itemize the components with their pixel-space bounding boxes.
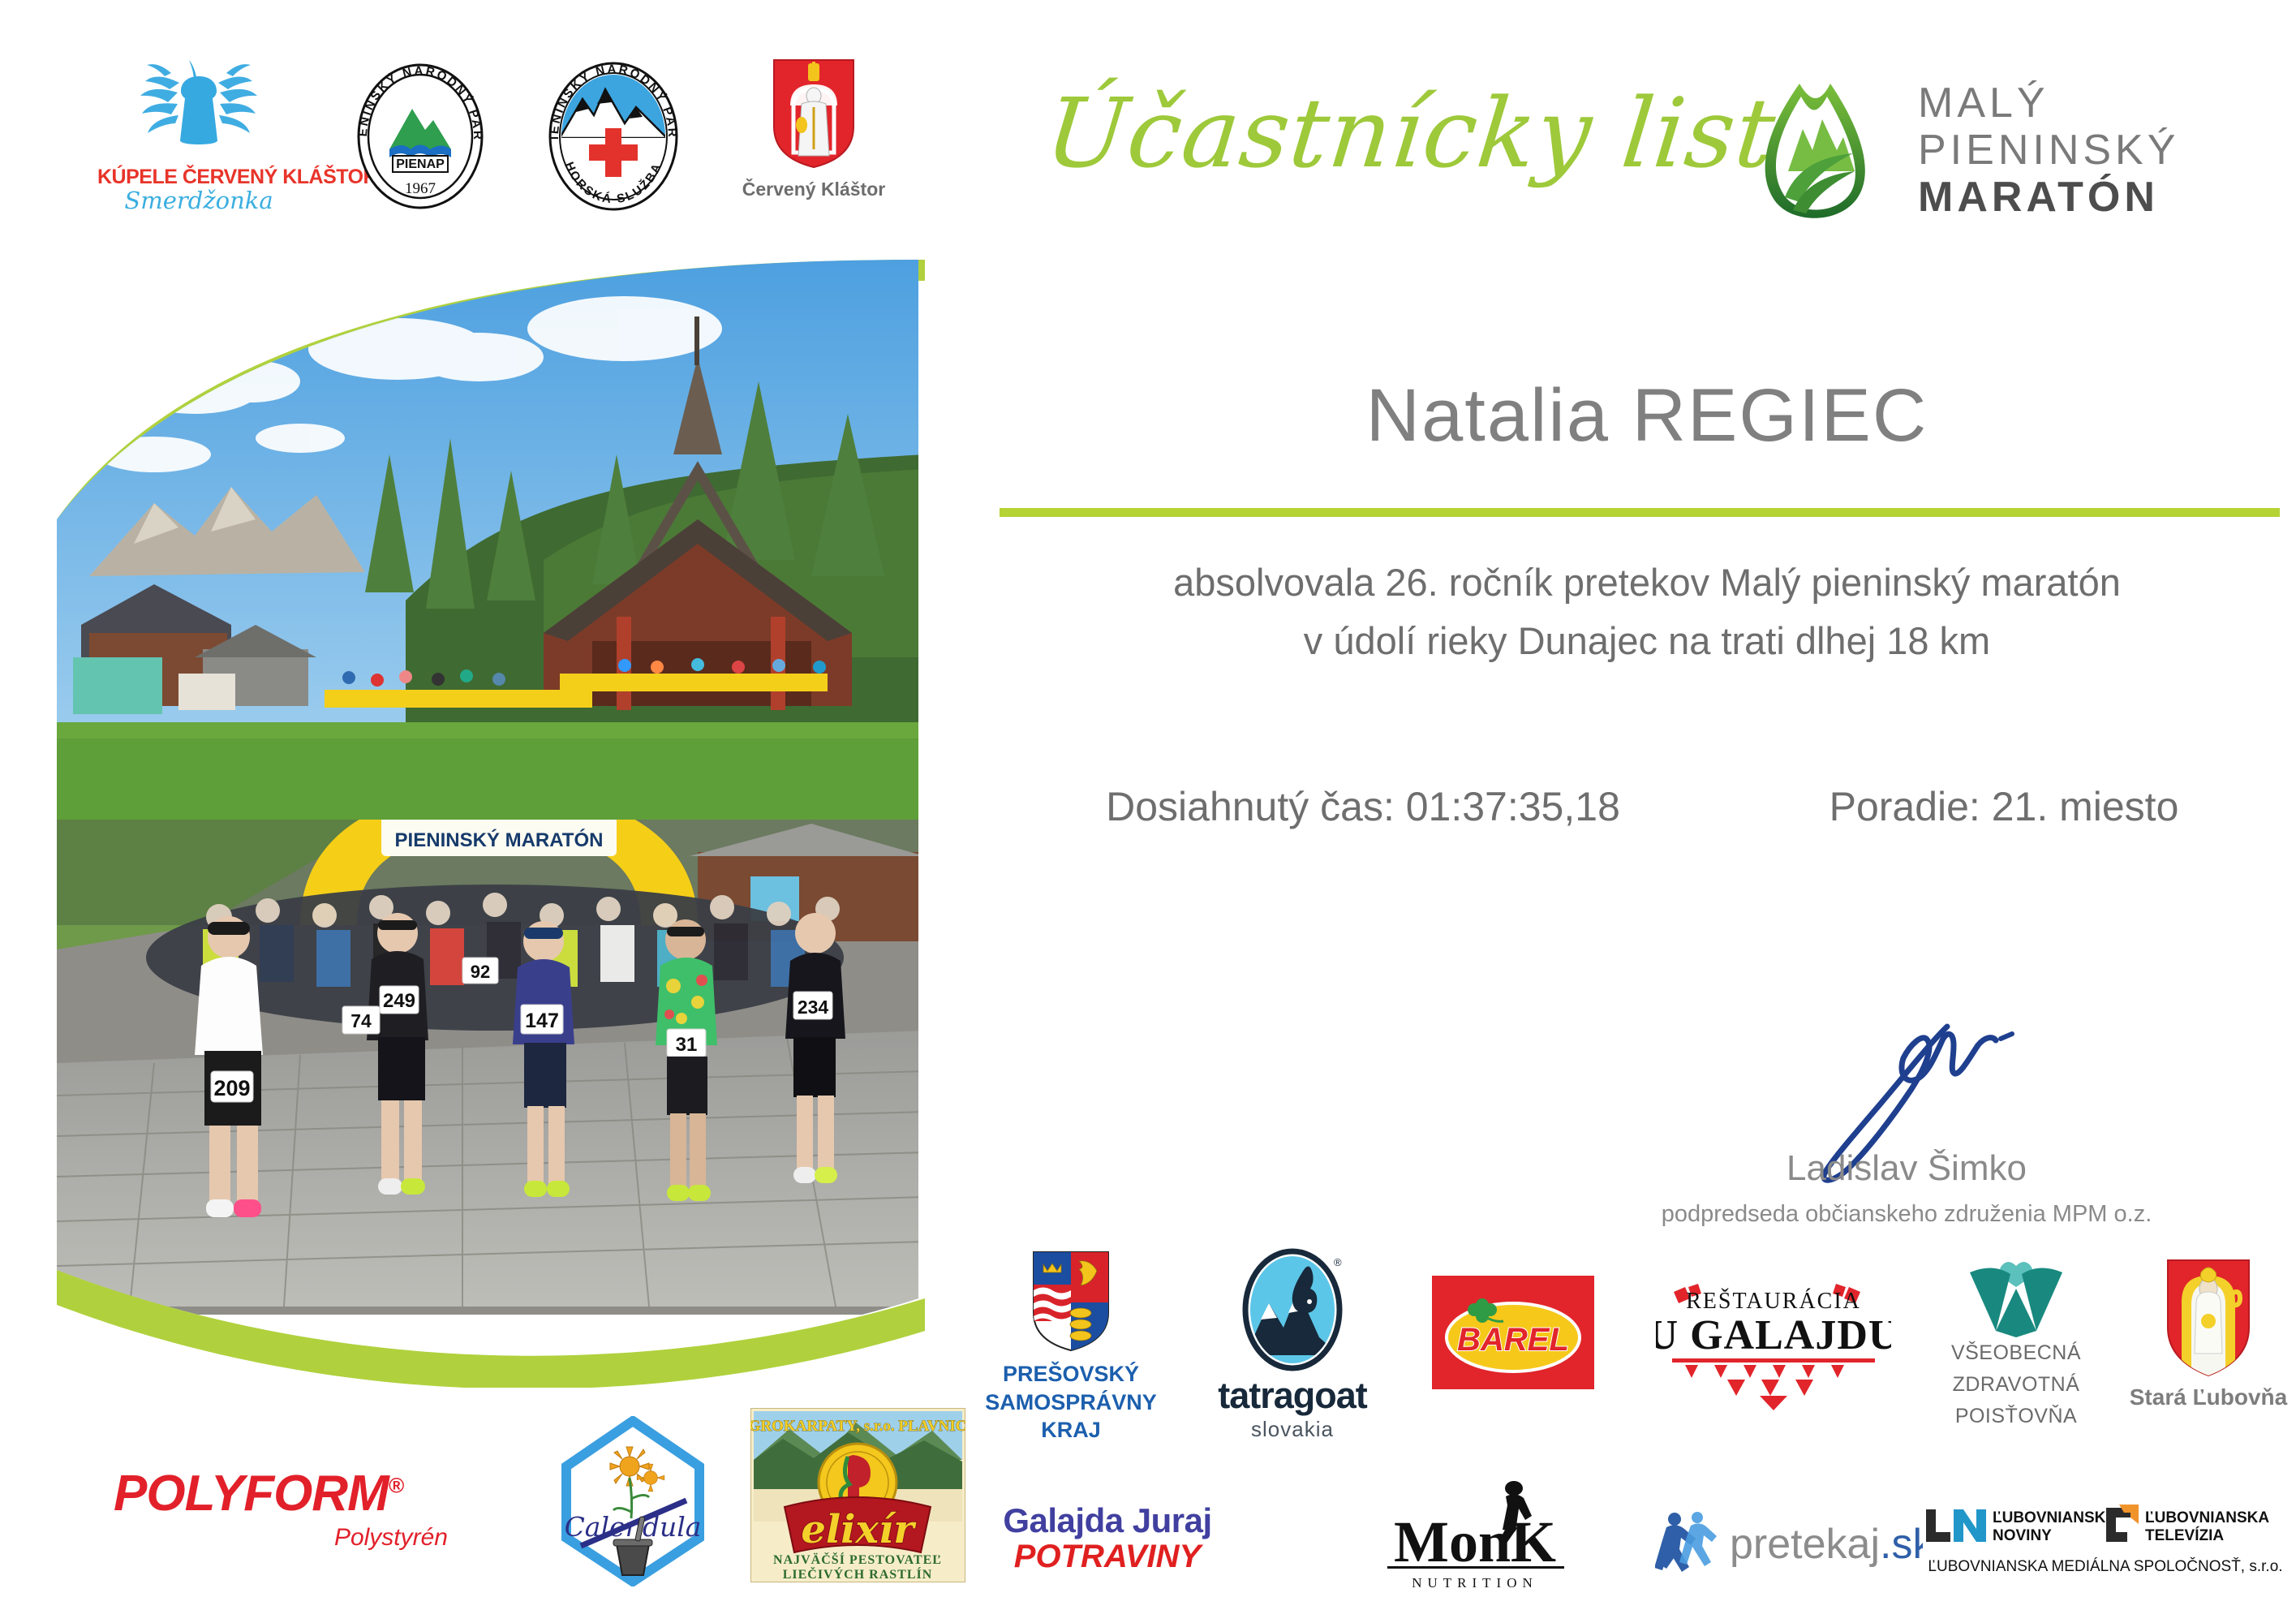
svg-text:147: 147 — [525, 1010, 559, 1032]
logo-tatragoat: ® tatragoat slovakia — [1199, 1248, 1386, 1442]
logo-restauracia-u-galajdu: REŠTAURÁCIA U GALAJDU — [1652, 1274, 1895, 1416]
achievement-line-1: absolvovala 26. ročník pretekov Malý pie… — [1006, 560, 2288, 605]
kupele-subtitle: Smerdžonka — [97, 188, 300, 214]
svg-text:pretekaj.sk: pretekaj.sk — [1730, 1521, 1923, 1568]
logo-presovsky-samospravny-kraj: PREŠOVSKÝ SAMOSPRÁVNY KRAJ — [982, 1250, 1160, 1444]
logo-horska-sluzba: PIENINSKÝ NÁRODNÝ PARK HORSKÁ SLUŽBA — [540, 57, 686, 211]
logo-calendula: Calendula — [552, 1416, 714, 1586]
result-place: Poradie: 21. miesto — [1720, 783, 2288, 830]
svg-text:1967: 1967 — [405, 180, 436, 197]
svg-text:BAREL: BAREL — [1457, 1322, 1569, 1358]
tatragoat-name: tatragoat — [1199, 1375, 1386, 1417]
logo-pieninsky-narodny-park: PIENINSKÝ NÁRODNÝ PARK PIENAP 1967 — [347, 57, 493, 211]
achievement-line-2: v údolí rieky Dunajec na trati dlhej 18 … — [1006, 618, 2288, 663]
brand-line-3: MARATÓN — [1918, 176, 2179, 218]
sponsor-row-bottom-left: POLYFORM® Polystyrén — [89, 1408, 982, 1595]
agrokarpaty-line: AGROKARPATY, s.r.o. PLAVNICA — [750, 1418, 965, 1435]
elixir-wordmark: elixír — [801, 1507, 917, 1552]
brand-logo-maly-pieninsky-maraton: MALÝ PIENINSKÝ MARATÓN — [1752, 73, 2272, 227]
signature-block: Ladislav Šimko podpredseda občianskeho z… — [1623, 998, 2191, 1225]
svg-text:249: 249 — [383, 990, 415, 1012]
svg-text:92: 92 — [471, 962, 490, 982]
sponsor-row-secondary: Galajda Juraj POTRAVINY MonK NUTRITION — [965, 1493, 2296, 1607]
galajda-line-1: Galajda Juraj — [974, 1501, 1241, 1540]
logo-agrokarpaty-elixir: AGROKARPATY, s.r.o. PLAVNICA elixír NAJV… — [750, 1408, 965, 1582]
leaf-mountain-icon — [1752, 75, 1898, 226]
svg-text:234: 234 — [798, 997, 829, 1018]
svg-text:TELEVÍZIA: TELEVÍZIA — [2145, 1526, 2224, 1544]
page-title: Účastnícky list — [1041, 77, 1767, 189]
svg-text:MonK: MonK — [1394, 1509, 1556, 1574]
svg-text:NUTRITION: NUTRITION — [1412, 1575, 1538, 1591]
logo-stara-lubovna: Stará Ľubovňa — [2127, 1258, 2290, 1410]
brand-line-1: MALÝ — [1918, 82, 2179, 124]
logo-barel: BAREL — [1420, 1276, 1606, 1393]
result-row: Dosiahnutý čas: 01:37:35,18 Poradie: 21.… — [1006, 783, 2288, 830]
svg-text:®: ® — [1334, 1256, 1342, 1268]
polyform-sub: Polystyrén — [114, 1524, 454, 1552]
angel-icon — [97, 57, 300, 166]
brand-wordmark: MALÝ PIENINSKÝ MARATÓN — [1918, 82, 2179, 218]
cerveny-klastor-label: Červený Kláštor — [737, 179, 891, 200]
kupele-title: KÚPELE ČERVENÝ KLÁŠTOR — [97, 166, 300, 187]
sponsor-row-primary: PREŠOVSKÝ SAMOSPRÁVNY KRAJ — [982, 1242, 2280, 1461]
crest-icon — [737, 57, 891, 170]
svg-text:ĽUBOVNIANSKA MEDIÁLNA SPOLOČNO: ĽUBOVNIANSKA MEDIÁLNA SPOLOČNOSŤ, s.r.o. — [1928, 1557, 2282, 1575]
logo-galajda-juraj-potraviny: Galajda Juraj POTRAVINY — [974, 1501, 1241, 1575]
logo-kupele-cerveny-klastor: KÚPELE ČERVENÝ KLÁŠTOR Smerdžonka — [97, 57, 300, 214]
certificate-page: KÚPELE ČERVENÝ KLÁŠTOR Smerdžonka PIENIN… — [0, 0, 2296, 1623]
svg-text:NOVINY: NOVINY — [1993, 1527, 2052, 1544]
psk-label: PREŠOVSKÝ SAMOSPRÁVNY KRAJ — [982, 1360, 1160, 1444]
stara-lubovna-label: Stará Ľubovňa — [2127, 1384, 2290, 1410]
svg-text:PIENINSKÝ MARATÓN: PIENINSKÝ MARATÓN — [395, 829, 604, 851]
logo-cerveny-klastor-obec: Červený Kláštor — [737, 57, 891, 200]
signatory-name: Ladislav Šimko — [1623, 1148, 2191, 1189]
logo-pretekaj-sk: pretekaj.sk — [1655, 1508, 1923, 1585]
svg-text:209: 209 — [213, 1076, 250, 1100]
accent-divider — [1000, 508, 2280, 517]
result-time: Dosiahnutý čas: 01:37:35,18 — [1006, 783, 1720, 830]
runner-name: Natalia REGIEC — [1006, 373, 2288, 458]
brand-line-2: PIENINSKÝ — [1918, 129, 2179, 171]
svg-text:74: 74 — [350, 1010, 372, 1031]
registered-mark-icon: ® — [389, 1473, 403, 1497]
logo-monk-nutrition: MonK NUTRITION — [1355, 1475, 1598, 1609]
svg-text:ĽUBOVNIANSKE: ĽUBOVNIANSKE — [1993, 1509, 2116, 1526]
logo-polyform: POLYFORM® Polystyrén — [114, 1465, 454, 1552]
vzp-label: VŠEOBECNÁ ZDRAVOTNÁ POISŤOVŇA — [1923, 1337, 2109, 1431]
tatragoat-sub: slovakia — [1199, 1417, 1386, 1442]
polyform-name: POLYFORM® — [114, 1465, 454, 1522]
svg-text:ĽUBOVNIANSKA: ĽUBOVNIANSKA — [2145, 1509, 2269, 1526]
svg-text:PIENAP: PIENAP — [396, 157, 445, 171]
elixir-line-4: LIEČIVÝCH RASTLÍN — [783, 1566, 933, 1582]
logo-vseobecna-zdravotna-poistovna: VŠEOBECNÁ ZDRAVOTNÁ POISŤOVŇA — [1923, 1259, 2109, 1431]
svg-text:31: 31 — [676, 1034, 698, 1056]
calendula-wordmark: Calendula — [565, 1511, 702, 1543]
svg-text:U GALAJDU: U GALAJDU — [1656, 1312, 1891, 1358]
logo-lubovnianska-medialna-spolocnost: ĽUBOVNIANSKE NOVINY ĽUBOVNIANSKA TELEVÍZ… — [1923, 1500, 2288, 1593]
partner-logos-strip: KÚPELE ČERVENÝ KLÁŠTOR Smerdžonka PIENIN… — [81, 57, 941, 235]
galajda-line-2: POTRAVINY — [974, 1539, 1241, 1575]
event-photo-collage: MALÝ PIENINSKÝ MARATÓN — [57, 252, 925, 1388]
elixir-line-3: NAJVÄČŠÍ PESTOVATEĽ — [773, 1552, 942, 1567]
svg-text:REŠTAURÁCIA: REŠTAURÁCIA — [1686, 1289, 1861, 1314]
signatory-role: podpredseda občianskeho združenia MPM o.… — [1623, 1201, 2191, 1228]
